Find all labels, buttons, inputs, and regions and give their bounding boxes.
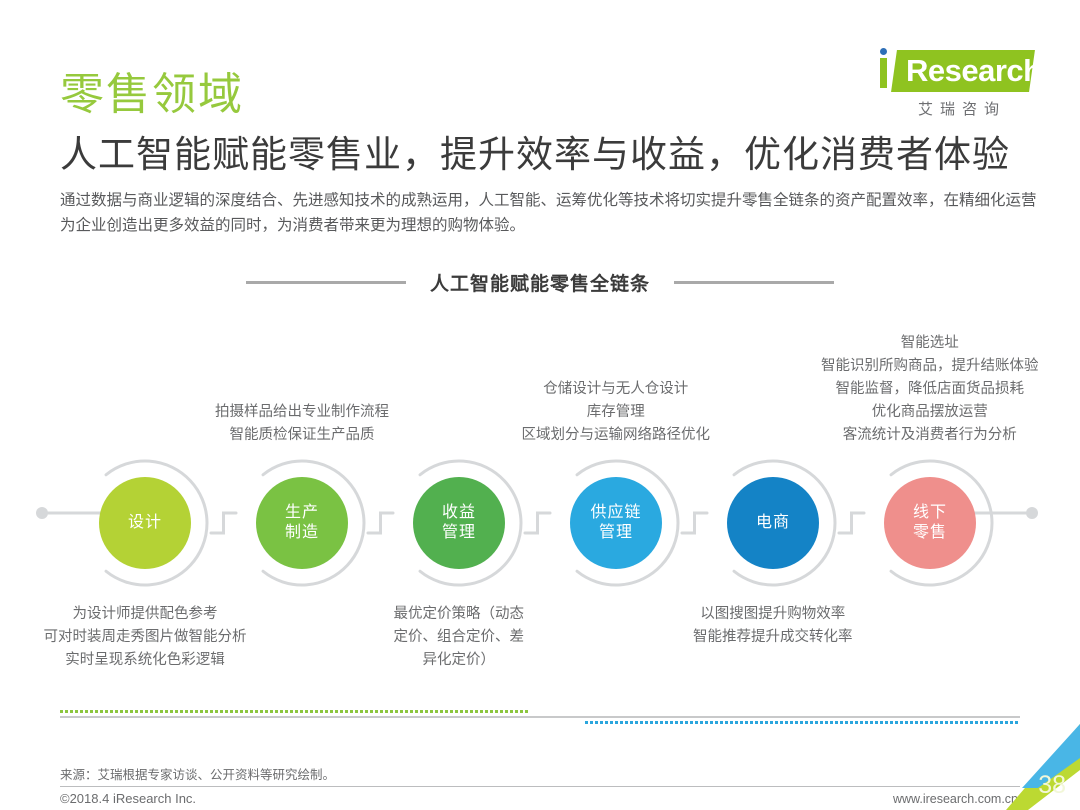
chain-node-3[interactable]: 收益管理 (413, 477, 505, 569)
chain-node-1[interactable]: 设计 (99, 477, 191, 569)
chain-annotation-below-3: 以图搜图提升购物效率智能推荐提升成交转化率 (693, 603, 853, 649)
annotation-line: 最优定价策略（动态 (394, 603, 525, 626)
chain-node-2[interactable]: 生产制造 (256, 477, 348, 569)
chain-node-label: 电商 (756, 513, 790, 533)
chain-connector (682, 513, 707, 533)
chain-start-dot (36, 507, 48, 519)
logo-wordmark: Research (906, 53, 1042, 89)
divider-green-dotted (60, 710, 530, 713)
footer-rule (60, 786, 1020, 787)
chain-annotation-below-1: 为设计师提供配色参考可对时装周走秀图片做智能分析实时呈现系统化色彩逻辑 (44, 603, 247, 672)
page-lead-paragraph: 通过数据与商业逻辑的深度结合、先进感知技术的成熟运用，人工智能、运筹优化等技术将… (60, 188, 1040, 238)
annotation-line: 拍摄样品给出专业制作流程 (215, 401, 389, 424)
chain-annotation-above-3: 智能选址智能识别所购商品，提升结账体验智能监督，降低店面货品损耗优化商品摆放运营… (821, 332, 1039, 447)
slide-root: Research 艾瑞咨询 零售领域 人工智能赋能零售业，提升效率与收益，优化消… (0, 0, 1080, 810)
chain-connector (368, 513, 393, 533)
chain-end-dot (1026, 507, 1038, 519)
iresearch-logo: Research 艾瑞咨询 (872, 48, 1032, 124)
divider-blue-dotted (585, 721, 1020, 724)
website-url: www.iresearch.com.cn (893, 792, 1018, 806)
annotation-line: 为设计师提供配色参考 (44, 603, 247, 626)
source-note: 来源：艾瑞根据专家访谈、公开资料等研究绘制。 (60, 764, 335, 783)
divider-gray (60, 716, 1020, 718)
chain-node-5[interactable]: 电商 (727, 477, 819, 569)
chain-annotation-above-2: 仓储设计与无人仓设计库存管理区域划分与运输网络路径优化 (522, 378, 711, 447)
annotation-line: 库存管理 (522, 401, 711, 424)
chain-node-label: 生产制造 (285, 503, 319, 543)
chain-connector (211, 513, 236, 533)
page-eyebrow: 零售领域 (60, 58, 244, 122)
section-rule-right (674, 281, 834, 284)
annotation-line: 智能质检保证生产品质 (215, 424, 389, 447)
annotation-line: 智能识别所购商品，提升结账体验 (821, 355, 1039, 378)
section-rule-left (246, 281, 406, 284)
annotation-line: 定价、组合定价、差 (394, 626, 525, 649)
page-number: 38 (1038, 771, 1066, 800)
chain-connector (839, 513, 864, 533)
chain-node-label: 供应链管理 (590, 503, 641, 543)
annotation-line: 智能监督，降低店面货品损耗 (821, 378, 1039, 401)
chain-node-label: 收益管理 (442, 503, 476, 543)
annotation-line: 区域划分与运输网络路径优化 (522, 424, 711, 447)
logo-mark: Research (872, 48, 1032, 96)
annotation-line: 可对时装周走秀图片做智能分析 (44, 626, 247, 649)
annotation-line: 智能选址 (821, 332, 1039, 355)
chain-node-6[interactable]: 线下零售 (884, 477, 976, 569)
logo-i-stem (880, 58, 887, 88)
copyright-text: ©2018.4 iResearch Inc. (60, 791, 196, 806)
chain-connector (525, 513, 550, 533)
annotation-line: 异化定价） (394, 649, 525, 672)
annotation-line: 以图搜图提升购物效率 (693, 603, 853, 626)
chain-annotation-above-1: 拍摄样品给出专业制作流程智能质检保证生产品质 (215, 401, 389, 447)
section-title: 人工智能赋能零售全链条 (430, 269, 650, 296)
annotation-line: 智能推荐提升成交转化率 (693, 626, 853, 649)
chain-diagram: 设计生产制造收益管理供应链管理电商线下零售 拍摄样品给出专业制作流程智能质检保证… (0, 300, 1080, 700)
logo-chinese-name: 艾瑞咨询 (896, 98, 1028, 119)
chain-node-4[interactable]: 供应链管理 (570, 477, 662, 569)
chain-node-label: 线下零售 (913, 503, 947, 543)
annotation-line: 实时呈现系统化色彩逻辑 (44, 649, 247, 672)
annotation-line: 客流统计及消费者行为分析 (821, 424, 1039, 447)
logo-i-dot-icon (880, 48, 887, 55)
chain-annotation-below-2: 最优定价策略（动态定价、组合定价、差异化定价） (394, 603, 525, 672)
section-header: 人工智能赋能零售全链条 (60, 268, 1020, 296)
chain-node-label: 设计 (128, 513, 162, 533)
page-title: 人工智能赋能零售业，提升效率与收益，优化消费者体验 (60, 124, 1010, 178)
annotation-line: 优化商品摆放运营 (821, 401, 1039, 424)
annotation-line: 仓储设计与无人仓设计 (522, 378, 711, 401)
